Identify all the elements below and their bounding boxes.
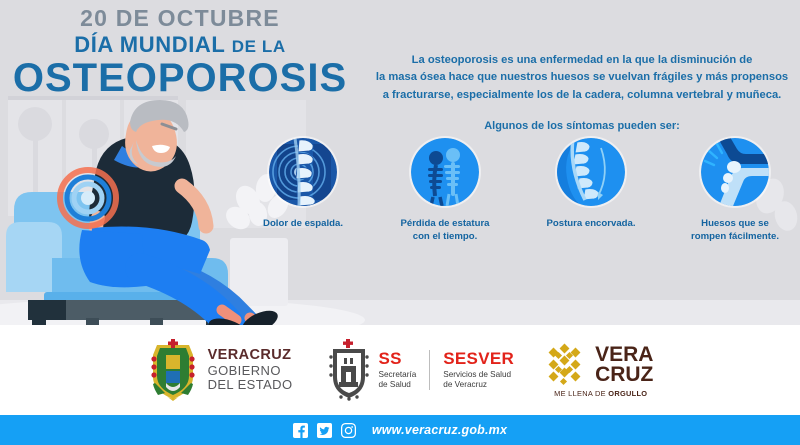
logo-sesver-text: SESVER Servicios de Salud de Veracruz xyxy=(443,350,514,390)
poster-root: 20 DE OCTUBRE DÍA MUNDIAL DE LA OSTEOPOR… xyxy=(0,0,800,445)
logo-veracruz-line2: GOBIERNO xyxy=(208,364,293,379)
armchair xyxy=(6,192,234,340)
logo-sesver-abbr: SESVER xyxy=(443,350,514,369)
logo-sesver-sub: Servicios de Salud de Veracruz xyxy=(443,370,514,391)
symptoms-list: Dolor de espalda. xyxy=(232,138,800,268)
description-line-1: La osteoporosis es una enfermedad en la … xyxy=(368,52,796,69)
logo-veracruz-orgullo: VERA CRUZ ME LLENA DE ORGULLO xyxy=(548,343,653,398)
pain-ripple-icon xyxy=(60,170,116,226)
instagram-icon[interactable] xyxy=(341,423,356,438)
logo-orgullo-line1: VERA xyxy=(595,345,653,364)
logo-veracruz-text: VERACRUZ GOBIERNO DEL ESTADO xyxy=(208,347,293,392)
symptom-label-back-pain: Dolor de espalda. xyxy=(232,218,374,231)
logo-ss-sub: Secretaría de Salud xyxy=(379,370,417,391)
skeleton-height-loss-icon xyxy=(411,138,479,206)
headline-block: 20 DE OCTUBRE DÍA MUNDIAL DE LA OSTEOPOR… xyxy=(0,6,360,98)
headline-subtitle: DÍA MUNDIAL DE LA xyxy=(0,32,360,57)
logo-salud-group: SS Secretaría de Salud SESVER Servicios … xyxy=(327,339,515,401)
logo-divider xyxy=(429,350,430,390)
secretaria-de-salud-crest-icon xyxy=(327,339,371,401)
curved-spine-icon xyxy=(557,138,625,206)
website-url[interactable]: www.veracruz.gob.mx xyxy=(372,423,507,437)
spine-pain-icon xyxy=(269,138,337,206)
logo-orgullo-tagline: ME LLENA DE ORGULLO xyxy=(554,389,647,398)
symptom-label-fragile-bones: Huesos que se rompen fácilmente. xyxy=(664,218,800,244)
page-title: OSTEOPOROSIS xyxy=(0,58,360,98)
veracruz-diamond-pattern-icon xyxy=(548,343,588,387)
symptom-label-height-loss: Pérdida de estatura con el tiempo. xyxy=(374,218,516,244)
footer-logo-bar: VERACRUZ GOBIERNO DEL ESTADO xyxy=(0,325,800,415)
broken-bone-joint-icon xyxy=(701,138,769,206)
symptom-item-back-pain: Dolor de espalda. xyxy=(232,138,374,231)
logo-ss-text: SS Secretaría de Salud xyxy=(379,350,417,390)
social-bar: www.veracruz.gob.mx xyxy=(0,415,800,445)
description-line-2: la masa ósea hace que nuestros huesos se… xyxy=(368,69,796,86)
logo-veracruz-line3: DEL ESTADO xyxy=(208,378,293,393)
description-block: La osteoporosis es una enfermedad en la … xyxy=(368,52,796,132)
symptom-item-stooped-posture: Postura encorvada. xyxy=(520,138,662,231)
logo-orgullo-line2: CRUZ xyxy=(595,365,653,384)
veracruz-state-crest-icon xyxy=(147,339,199,401)
headline-subtitle-main: DÍA MUNDIAL xyxy=(74,32,225,57)
headline-date: 20 DE OCTUBRE xyxy=(0,6,360,30)
logo-veracruz-orgullo-text: VERA CRUZ xyxy=(595,345,653,384)
description-line-3: a fracturarse, especialmente los de la c… xyxy=(368,87,796,104)
twitter-icon[interactable] xyxy=(317,423,332,438)
symptom-item-height-loss: Pérdida de estatura con el tiempo. xyxy=(374,138,516,244)
logo-ss-abbr: SS xyxy=(379,350,417,369)
logo-veracruz-line1: VERACRUZ xyxy=(208,347,293,363)
headline-subtitle-small: DE LA xyxy=(232,37,286,56)
logo-veracruz-gobierno: VERACRUZ GOBIERNO DEL ESTADO xyxy=(147,339,293,401)
facebook-icon[interactable] xyxy=(293,423,308,438)
symptoms-intro: Algunos de los síntomas pueden ser: xyxy=(368,120,796,132)
symptom-label-stooped-posture: Postura encorvada. xyxy=(520,218,662,231)
symptom-item-fragile-bones: Huesos que se rompen fácilmente. xyxy=(664,138,800,244)
